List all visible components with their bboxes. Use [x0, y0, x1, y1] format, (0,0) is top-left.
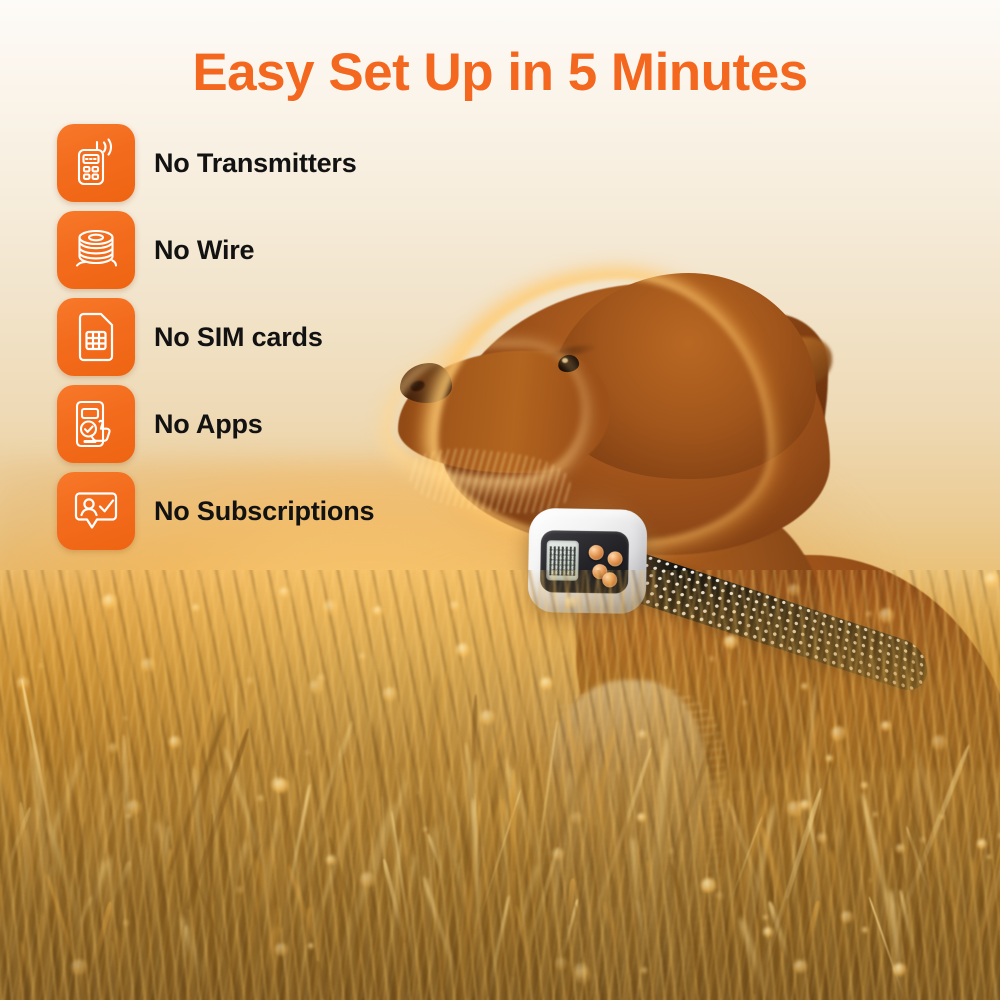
bokeh-highlight: [801, 683, 808, 690]
bokeh-highlight: [817, 833, 827, 843]
bokeh-highlight: [308, 943, 314, 949]
subscription-icon: [70, 489, 122, 533]
promo-image: Easy Set Up in 5 Minutes: [0, 0, 1000, 1000]
bokeh-highlight: [866, 611, 872, 617]
bokeh-highlight: [192, 604, 200, 612]
device-contact-point: [607, 551, 622, 566]
bokeh-highlight: [984, 572, 1000, 588]
feature-label: No Wire: [154, 235, 254, 266]
bokeh-highlight: [39, 664, 43, 668]
bokeh-highlight: [71, 959, 87, 975]
bokeh-highlight: [800, 800, 810, 810]
sim-card-icon: [75, 312, 117, 362]
bokeh-highlight: [574, 963, 589, 978]
bokeh-highlight: [862, 927, 868, 933]
bokeh-highlight: [540, 677, 553, 690]
feature-item-apps: No Apps: [57, 385, 374, 463]
transmitter-icon: [73, 138, 119, 188]
bokeh-highlight: [987, 855, 991, 859]
feature-item-transmitters: No Transmitters: [57, 124, 374, 202]
bokeh-highlight: [794, 960, 807, 973]
bokeh-highlight: [359, 653, 366, 660]
device-contact-point: [589, 545, 604, 560]
bokeh-highlight: [456, 643, 470, 657]
wire-badge: [57, 211, 135, 289]
bokeh-highlight: [920, 837, 926, 843]
bokeh-highlight: [383, 687, 397, 701]
bokeh-highlight: [879, 608, 894, 623]
bokeh-highlight: [552, 848, 564, 860]
bokeh-highlight: [763, 927, 773, 937]
feature-label: No Subscriptions: [154, 496, 374, 527]
wire-spool-icon: [71, 227, 121, 273]
subscriptions-badge: [57, 472, 135, 550]
feature-item-sim: No SIM cards: [57, 298, 374, 376]
bokeh-highlight: [932, 735, 947, 750]
feature-label: No Apps: [154, 409, 263, 440]
bokeh-highlight: [305, 750, 311, 756]
feature-label: No Transmitters: [154, 148, 357, 179]
bokeh-highlight: [637, 813, 646, 822]
page-title: Easy Set Up in 5 Minutes: [0, 45, 1000, 101]
bokeh-highlight: [169, 736, 181, 748]
bokeh-highlight: [841, 911, 853, 923]
bokeh-highlight: [141, 658, 155, 672]
grass-blade: [837, 827, 842, 865]
bokeh-highlight: [423, 827, 428, 832]
sim-badge: [57, 298, 135, 376]
bokeh-highlight: [555, 957, 568, 970]
phone-tap-icon: [71, 399, 121, 449]
bokeh-highlight: [236, 886, 244, 894]
bokeh-highlight: [360, 872, 375, 887]
grass-blade: [645, 860, 649, 902]
bokeh-highlight: [275, 943, 288, 956]
grass-field: [0, 570, 1000, 1000]
transmitter-badge: [57, 124, 135, 202]
bokeh-highlight: [724, 635, 738, 649]
bokeh-highlight: [373, 606, 383, 616]
bokeh-highlight: [709, 656, 715, 662]
bokeh-highlight: [309, 680, 323, 694]
bokeh-highlight: [571, 812, 583, 824]
bokeh-highlight: [881, 721, 891, 731]
bokeh-highlight: [873, 812, 878, 817]
feature-item-subscriptions: No Subscriptions: [57, 472, 374, 550]
bokeh-highlight: [826, 755, 833, 762]
feature-label: No SIM cards: [154, 322, 323, 353]
bokeh-highlight: [896, 844, 905, 853]
bokeh-highlight: [831, 726, 846, 741]
feature-list: No Transmitters No W: [57, 124, 374, 550]
bokeh-highlight: [323, 600, 338, 615]
bokeh-highlight: [246, 677, 254, 685]
bokeh-highlight: [641, 967, 648, 974]
feature-item-wire: No Wire: [57, 211, 374, 289]
apps-badge: [57, 385, 135, 463]
bokeh-highlight: [788, 584, 800, 596]
bokeh-highlight: [742, 700, 748, 706]
bokeh-highlight: [565, 596, 577, 608]
